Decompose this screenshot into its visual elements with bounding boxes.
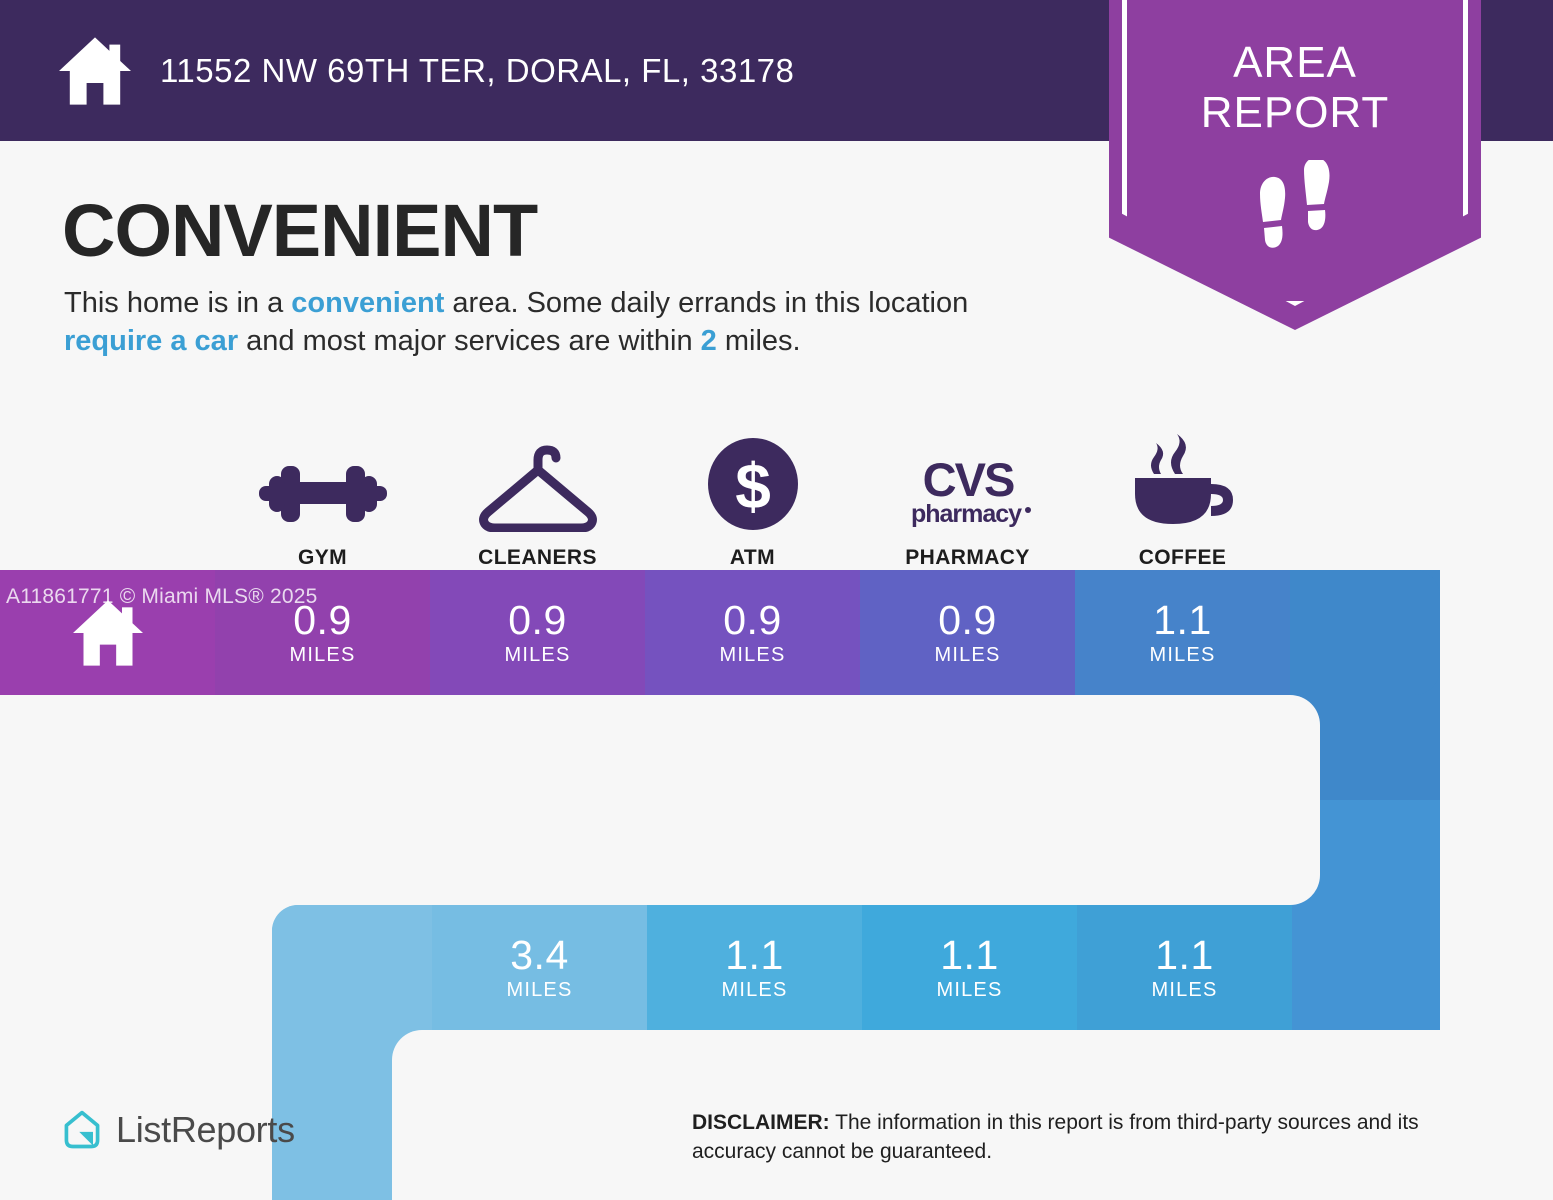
distance-value: 1.1 — [940, 934, 999, 976]
summary-highlight-1: convenient — [291, 287, 444, 319]
bar-segment-turn-2 — [1292, 905, 1440, 1030]
disclaimer: DISCLAIMER: The information in this repo… — [692, 1108, 1502, 1166]
amenity-label: GYM — [298, 546, 347, 570]
distance-unit: MILES — [719, 643, 785, 667]
summary-part-2: area. Some daily errands in this locatio… — [444, 287, 968, 319]
bar-segment-turn — [1290, 570, 1440, 695]
bar-segment-lead — [272, 905, 432, 1030]
svg-text:CVS: CVS — [922, 453, 1013, 506]
dollar-circle-icon: $ — [706, 436, 800, 532]
coffee-cup-icon-wrap — [1129, 432, 1237, 532]
amenity-label: COFFEE — [1139, 546, 1227, 570]
distance-value: 0.9 — [723, 599, 782, 641]
badge-line-1: AREA — [1109, 38, 1481, 88]
bar-segment-movie-theater: 3.4 MILES — [432, 905, 647, 1030]
distance-unit: MILES — [1151, 978, 1217, 1002]
dollar-circle-icon-wrap: $ — [706, 432, 800, 532]
distance-unit: MILES — [936, 978, 1002, 1002]
amenity-gym: GYM — [215, 420, 430, 570]
amenity-icon-row-1: GYM CLEANERS $ ATM CVS pharmacy PHA — [215, 420, 1290, 570]
distance-unit: MILES — [934, 643, 1000, 667]
summary-part-1: This home is in a — [64, 287, 291, 319]
summary-highlight-2: require a car — [64, 325, 238, 357]
bar-segment-medical: 1.1 MILES — [862, 905, 1077, 1030]
amenity-label: ATM — [730, 546, 775, 570]
hanger-icon — [477, 440, 599, 532]
distance-value: 1.1 — [725, 934, 784, 976]
svg-text:$: $ — [735, 450, 771, 522]
summary-part-3: and most major services are within — [238, 325, 701, 357]
dumbbell-icon-wrap — [259, 432, 387, 532]
property-address: 11552 NW 69TH TER, DORAL, FL, 33178 — [160, 52, 794, 90]
bar-segment-pharmacy: 0.9 MILES — [860, 570, 1075, 695]
home-icon — [56, 35, 134, 107]
listreports-brand-name: ListReports — [116, 1109, 295, 1151]
distance-value: 0.9 — [938, 599, 997, 641]
hanger-icon-wrap — [477, 432, 599, 532]
area-report-badge-text: AREA REPORT — [1109, 38, 1481, 138]
listreports-logo-icon — [60, 1108, 104, 1152]
badge-line-2: REPORT — [1109, 88, 1481, 138]
bar-notch-right — [0, 695, 1320, 905]
bar-segment-atm: 0.9 MILES — [645, 570, 860, 695]
distance-value: 1.1 — [1155, 934, 1214, 976]
distance-unit: MILES — [721, 978, 787, 1002]
disclaimer-label: DISCLAIMER: — [692, 1111, 830, 1134]
distance-unit: MILES — [506, 978, 572, 1002]
listreports-brand: ListReports — [60, 1108, 295, 1152]
bar-segment-groceries: 1.1 MILES — [1077, 905, 1292, 1030]
svg-text:pharmacy: pharmacy — [910, 500, 1021, 528]
coffee-cup-icon — [1129, 434, 1237, 532]
summary-highlight-3: 2 — [701, 325, 717, 357]
footprints-icon — [1252, 160, 1342, 252]
amenity-coffee: COFFEE — [1075, 420, 1290, 570]
bar-segment-gas: 1.1 MILES — [647, 905, 862, 1030]
cvs-pharmacy-icon-wrap: CVS pharmacy — [900, 432, 1036, 532]
bar-segment-cleaners: 0.9 MILES — [430, 570, 645, 695]
distance-bar-row-2: 3.4 MILES 1.1 MILES 1.1 MILES 1.1 MILES — [272, 905, 1440, 1030]
distance-value: 0.9 — [508, 599, 567, 641]
mls-watermark: A11861771 © Miami MLS® 2025 — [6, 585, 317, 609]
amenity-pharmacy: CVS pharmacy PHARMACY — [860, 420, 1075, 570]
distance-unit: MILES — [1149, 643, 1215, 667]
distance-unit: MILES — [289, 643, 355, 667]
distance-value: 3.4 — [510, 934, 569, 976]
amenity-label: CLEANERS — [478, 546, 597, 570]
distance-value: 1.1 — [1153, 599, 1212, 641]
dumbbell-icon — [259, 456, 387, 532]
cvs-pharmacy-icon: CVS pharmacy — [900, 452, 1036, 532]
distance-bar-chart: 0.9 MILES 0.9 MILES 0.9 MILES 0.9 MILES … — [0, 570, 1553, 1200]
bar-segment-coffee: 1.1 MILES — [1075, 570, 1290, 695]
summary-part-4: miles. — [717, 325, 801, 357]
page-title: CONVENIENT — [62, 192, 537, 270]
amenity-atm: $ ATM — [645, 420, 860, 570]
distance-unit: MILES — [504, 643, 570, 667]
amenity-label: PHARMACY — [905, 546, 1030, 570]
amenity-cleaners: CLEANERS — [430, 420, 645, 570]
summary-text: This home is in a convenient area. Some … — [64, 284, 1074, 360]
